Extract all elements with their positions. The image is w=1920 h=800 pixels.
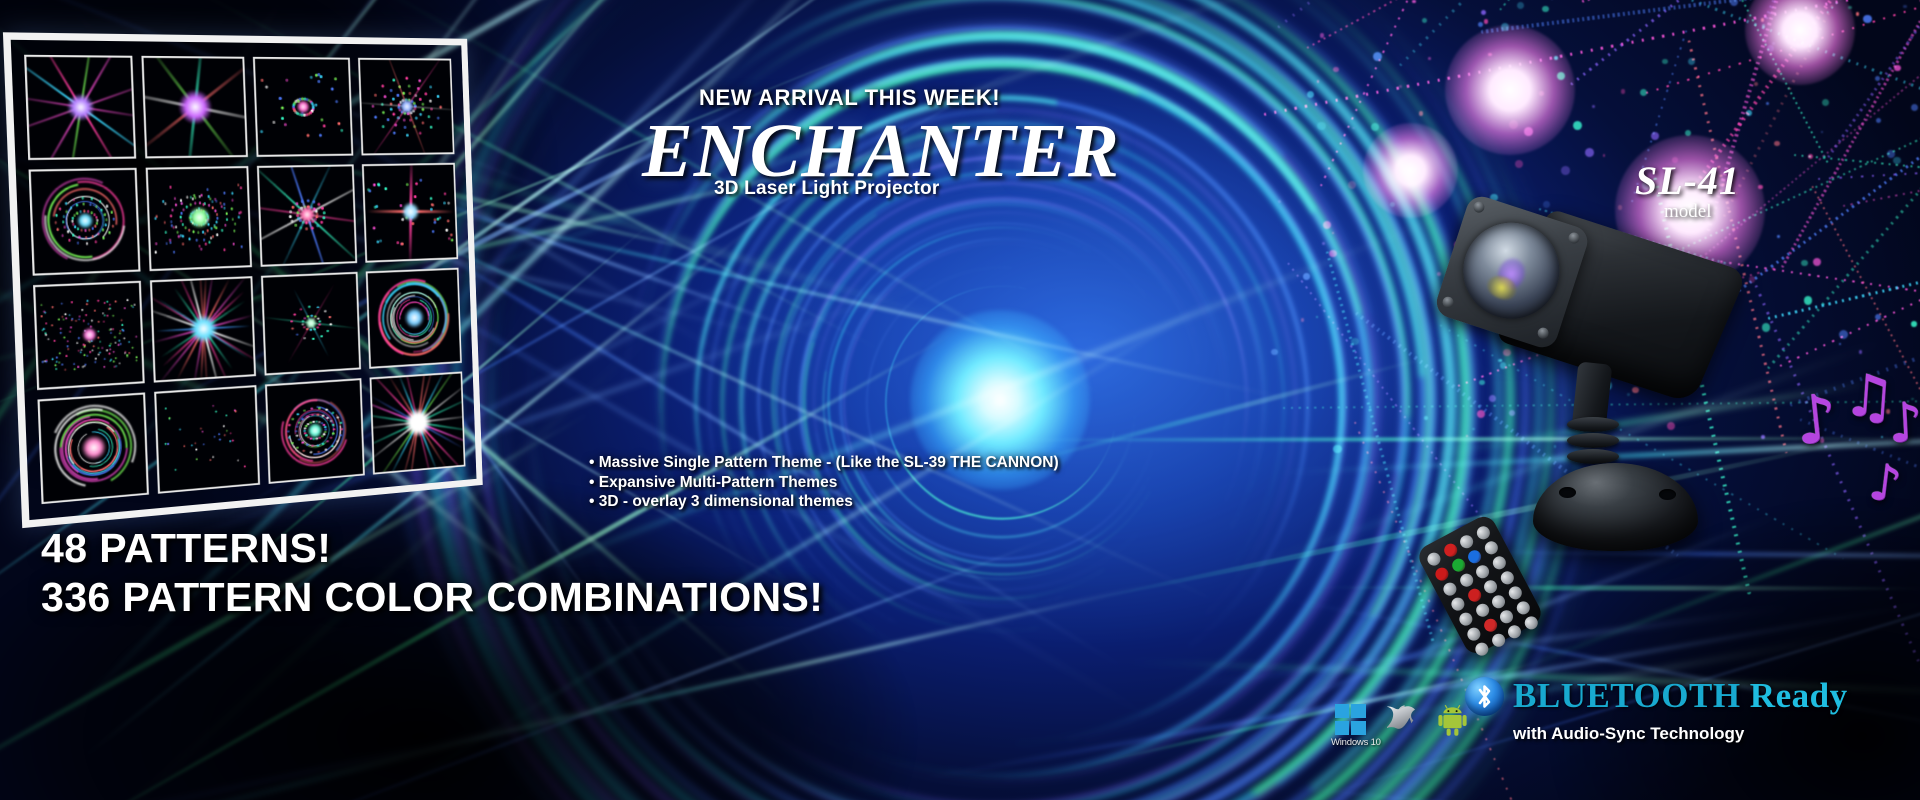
remote-button[interactable] [1466, 548, 1484, 566]
pattern-dot [89, 203, 92, 206]
pattern-dot [199, 202, 202, 205]
pattern-dot [321, 435, 324, 438]
pattern-dot [211, 200, 214, 203]
pattern-arc [29, 168, 141, 275]
compat-item-apple [1382, 704, 1420, 738]
pattern-dot [216, 234, 219, 237]
pattern-dot [215, 227, 218, 230]
pattern-dot [104, 314, 107, 317]
pattern-dot [374, 94, 376, 97]
pattern-tile[interactable] [256, 165, 357, 267]
pattern-dot [230, 208, 233, 211]
pattern-dot [168, 417, 171, 420]
pattern-dot [194, 197, 197, 200]
pattern-dot [72, 234, 75, 237]
pattern-dot [422, 122, 424, 125]
remote-button[interactable] [1514, 599, 1532, 617]
pattern-beam [150, 306, 256, 350]
pattern-dot [304, 432, 307, 435]
pattern-dot [62, 221, 65, 224]
pattern-arc [59, 196, 111, 247]
pattern-dot [85, 236, 88, 239]
pattern-dot [192, 231, 195, 234]
pattern-dot [41, 360, 44, 363]
pattern-dot [209, 459, 212, 462]
pattern-tile[interactable] [24, 55, 136, 161]
bluetooth-brand: BLUETOOTH [1513, 676, 1741, 715]
pattern-dot [44, 311, 47, 314]
pattern-beam [141, 88, 247, 126]
pattern-dot [83, 345, 86, 348]
pattern-dot [439, 217, 441, 220]
pattern-dot [430, 126, 432, 129]
pattern-dot [337, 416, 339, 419]
pattern-core-glow [297, 100, 311, 114]
pattern-dot [97, 299, 100, 302]
pattern-dot [194, 442, 197, 445]
pattern-tile[interactable] [29, 168, 141, 275]
pattern-dot [212, 405, 215, 408]
pattern-dot [126, 299, 129, 302]
headline-block: 48 PATTERNS! 336 PATTERN COLOR COMBINATI… [41, 524, 823, 622]
pattern-dot [164, 203, 167, 206]
pattern-dot [109, 344, 112, 347]
pattern-dot [43, 327, 46, 330]
pattern-dot [96, 219, 99, 222]
pattern-dot [219, 438, 222, 441]
pattern-dot [232, 243, 235, 246]
pattern-dot [202, 223, 205, 226]
pattern-dot [281, 107, 284, 110]
pattern-dot [240, 187, 243, 190]
remote-button[interactable] [1490, 593, 1508, 611]
pattern-dot [169, 186, 172, 189]
feature-item: • Massive Single Pattern Theme - (Like t… [589, 453, 1059, 473]
remote-button[interactable] [1482, 578, 1500, 596]
pattern-dot [297, 413, 300, 416]
pattern-dot [447, 220, 449, 223]
pattern-dot [182, 209, 185, 212]
pattern-tile[interactable] [37, 392, 148, 504]
pattern-dot [97, 353, 100, 356]
pattern-dot [393, 79, 395, 82]
pattern-dot [66, 340, 69, 343]
pattern-dot [180, 220, 183, 223]
projector-ring [1567, 417, 1619, 432]
remote-button[interactable] [1481, 617, 1499, 635]
pattern-dot [96, 222, 99, 225]
remote-button[interactable] [1441, 542, 1459, 560]
remote-button[interactable] [1433, 565, 1451, 583]
pattern-dot [429, 86, 431, 88]
pattern-dot [432, 230, 434, 233]
pattern-tile[interactable] [362, 163, 458, 262]
pattern-dot [180, 234, 183, 237]
pattern-dot [71, 301, 74, 304]
pattern-dot [73, 362, 76, 365]
pattern-dot [450, 234, 452, 237]
pattern-dot [321, 118, 324, 121]
pattern-dot [105, 224, 108, 227]
pattern-dot [409, 92, 411, 95]
pattern-dot [237, 216, 240, 219]
pattern-dot [103, 320, 106, 323]
pattern-tile[interactable] [150, 276, 256, 383]
pattern-dot [313, 201, 316, 204]
pattern-dot [78, 318, 81, 321]
pattern-dot [320, 75, 323, 78]
pattern-dot [78, 315, 81, 318]
pattern-dot [432, 204, 434, 207]
pattern-dot [110, 358, 113, 361]
pattern-tile[interactable] [358, 58, 454, 156]
pattern-dot [330, 437, 332, 440]
pattern-dot [373, 184, 375, 187]
pattern-dot [64, 368, 67, 371]
pattern-dot [106, 205, 109, 208]
pattern-dot [108, 352, 111, 355]
pattern-dot [109, 307, 112, 310]
headline-line-1: 48 PATTERNS! [41, 524, 823, 573]
pattern-core-glow [177, 90, 212, 125]
pattern-dot [425, 93, 427, 95]
pattern-dot [86, 299, 89, 302]
pattern-dot [420, 179, 422, 182]
pattern-dot [67, 230, 70, 233]
pattern-dot [97, 233, 100, 236]
pattern-dot [132, 306, 135, 309]
pattern-dot [291, 442, 294, 445]
pattern-dot [86, 242, 89, 245]
pattern-dot [305, 228, 308, 231]
music-note-icon: ♪ [1792, 390, 1840, 450]
pattern-dot [428, 115, 430, 118]
pattern-dot [45, 360, 48, 363]
pattern-dot [174, 469, 177, 472]
pattern-dot [60, 327, 63, 330]
pattern-dot [202, 210, 205, 213]
pattern-dot [102, 312, 105, 315]
pattern-dot [164, 231, 167, 234]
pattern-dot [121, 323, 124, 326]
pattern-dot [315, 104, 318, 107]
pattern-dot [179, 428, 182, 431]
pattern-dot [103, 365, 106, 368]
pattern-dot [295, 224, 298, 227]
pattern-dot [117, 343, 120, 346]
pattern-dot [317, 225, 320, 228]
pattern-dot [40, 304, 43, 307]
pattern-dot [169, 241, 172, 244]
remote-button[interactable] [1457, 610, 1475, 628]
pattern-dot [99, 351, 102, 354]
pattern-dot [85, 314, 88, 317]
pattern-dot [113, 218, 116, 221]
pattern-arc [39, 176, 130, 267]
remote-button[interactable] [1474, 524, 1492, 542]
pattern-core-glow [188, 206, 211, 229]
pattern-dot [316, 213, 319, 216]
pattern-dot [189, 216, 192, 219]
pattern-dot [71, 317, 74, 320]
pattern-dot [415, 183, 417, 186]
remote-button[interactable] [1490, 554, 1508, 572]
pattern-beam [176, 277, 230, 379]
pattern-dot [223, 203, 226, 206]
pattern-dot [80, 229, 83, 232]
pattern-dot [214, 210, 217, 213]
remote-button[interactable] [1474, 563, 1492, 581]
pattern-grid-frame [3, 32, 483, 528]
pattern-dot [164, 407, 167, 410]
pattern-dot [114, 341, 117, 344]
pattern-dot [68, 314, 71, 317]
pattern-dot [415, 117, 417, 120]
pattern-dot [200, 210, 203, 213]
pattern-tile[interactable] [141, 56, 247, 159]
pattern-dot [295, 430, 298, 433]
pattern-dot [82, 343, 85, 346]
pattern-dot [200, 248, 203, 251]
remote-button[interactable] [1441, 580, 1459, 598]
pattern-dot [216, 213, 219, 216]
pattern-dot [377, 241, 379, 244]
pattern-dot [154, 217, 157, 220]
pattern-dot [61, 363, 64, 366]
pattern-dot [444, 193, 446, 196]
pattern-dot [82, 197, 85, 200]
pattern-dot [322, 443, 325, 446]
pattern-dot [155, 243, 158, 246]
pattern-dot [198, 207, 201, 210]
pattern-dot [404, 126, 406, 129]
pattern-dot [84, 363, 87, 366]
pattern-arc [66, 419, 121, 476]
projector-ring [1567, 449, 1619, 464]
pattern-tile[interactable] [366, 267, 462, 368]
remote-button[interactable] [1457, 572, 1475, 590]
pattern-dot [341, 129, 343, 132]
pattern-dot [184, 227, 187, 230]
feature-item: • 3D - overlay 3 dimensional themes [589, 492, 1059, 512]
pattern-beam [141, 60, 247, 156]
pattern-dot [59, 352, 62, 355]
pattern-dot [66, 345, 69, 348]
pattern-beam [155, 325, 251, 332]
pattern-dot [162, 200, 165, 203]
pattern-dot [310, 451, 313, 454]
pattern-dot [226, 218, 229, 221]
pattern-dot [207, 195, 210, 198]
bluetooth-badge: BLUETOOTH Ready [1465, 676, 1848, 716]
pattern-dot [90, 340, 93, 343]
pattern-dot [302, 323, 305, 326]
pattern-tile[interactable] [33, 280, 144, 390]
pattern-dot [325, 428, 328, 431]
pattern-tile[interactable] [370, 371, 466, 475]
pattern-dot [291, 220, 294, 223]
pattern-dot [384, 95, 386, 98]
projector-base [1533, 463, 1698, 551]
pattern-dot [68, 239, 71, 242]
pattern-dot [322, 415, 325, 418]
pattern-dot [182, 235, 185, 238]
pattern-dot [296, 202, 299, 205]
pattern-dot [111, 211, 114, 214]
pattern-dot [119, 330, 122, 333]
pattern-dot [83, 354, 86, 357]
pattern-dot [430, 197, 432, 200]
pattern-dot [88, 229, 91, 232]
pattern-dot [273, 121, 276, 124]
music-note-icon: ♪ [1867, 460, 1904, 506]
pattern-dot [128, 340, 131, 343]
pattern-dot [112, 350, 115, 353]
pattern-dot [181, 223, 184, 226]
pattern-dot [119, 342, 122, 345]
pattern-dot [76, 342, 79, 345]
pattern-arc [46, 400, 141, 496]
pattern-dot [124, 307, 127, 310]
remote-button[interactable] [1449, 595, 1467, 613]
pattern-dot [180, 199, 183, 202]
pattern-dot [56, 356, 59, 359]
pattern-dot [89, 350, 92, 353]
pattern-dot [51, 306, 54, 309]
pattern-beam [186, 56, 204, 159]
pattern-dot [86, 354, 89, 357]
pattern-dot [60, 331, 63, 334]
pattern-dot [189, 203, 192, 206]
pattern-dot [59, 208, 62, 211]
remote-button[interactable] [1425, 550, 1443, 568]
pattern-dot [430, 208, 432, 211]
remote-button[interactable] [1473, 602, 1491, 620]
pattern-dot [114, 300, 117, 303]
pattern-tile[interactable] [154, 385, 260, 494]
pattern-dot [317, 306, 320, 309]
pattern-beam [32, 55, 128, 161]
pattern-dot [84, 344, 87, 347]
pattern-dot [200, 194, 203, 197]
remote-button[interactable] [1449, 557, 1467, 575]
pattern-dot [170, 215, 173, 218]
remote-button[interactable] [1506, 584, 1524, 602]
pattern-dot [319, 134, 322, 137]
pattern-arc [55, 410, 131, 486]
pattern-dot [190, 444, 193, 447]
pattern-dot [118, 339, 121, 342]
promo-banner: NEW ARRIVAL THIS WEEK! ENCHANTER 3D Lase… [0, 0, 1920, 800]
pattern-tile[interactable] [260, 271, 361, 375]
pattern-dot [77, 365, 80, 368]
pattern-dot [95, 357, 98, 360]
pattern-dot [382, 111, 384, 114]
base-hole [1659, 489, 1676, 500]
pattern-dot [324, 310, 327, 313]
pattern-dot [419, 132, 421, 135]
apple-logo-icon [1387, 704, 1416, 738]
pattern-arc [73, 428, 114, 468]
pattern-dot [310, 328, 313, 331]
pattern-dot [99, 200, 102, 203]
pattern-dot [317, 414, 320, 417]
pattern-dot [191, 198, 194, 201]
pattern-dot [82, 365, 85, 368]
remote-button[interactable] [1498, 608, 1516, 626]
pattern-dot [213, 226, 216, 229]
pattern-dot [176, 231, 179, 234]
pattern-beam [151, 314, 254, 344]
pattern-tile[interactable] [265, 378, 366, 484]
pattern-dot [281, 117, 284, 120]
remote-button[interactable] [1482, 539, 1500, 557]
pattern-dot [302, 441, 305, 444]
pattern-dot [79, 351, 82, 354]
pattern-dot [100, 209, 103, 212]
pattern-dot [45, 333, 48, 336]
pattern-dot [301, 200, 304, 203]
pattern-dot [122, 329, 125, 332]
pattern-beam [200, 276, 207, 383]
pattern-dot [210, 237, 213, 240]
pattern-dot [45, 359, 48, 362]
pattern-beam [175, 276, 231, 383]
pattern-tile[interactable] [145, 166, 251, 270]
remote-button[interactable] [1458, 533, 1476, 551]
pattern-dot [87, 210, 90, 213]
pattern-dot [193, 194, 196, 197]
pattern-dot [202, 203, 205, 206]
pattern-dot [393, 132, 395, 135]
pattern-dot [321, 221, 324, 224]
pattern-dot [447, 202, 449, 205]
remote-button[interactable] [1498, 569, 1516, 587]
pattern-dot [288, 424, 291, 427]
pattern-dot [207, 223, 210, 226]
remote-button[interactable] [1465, 625, 1483, 643]
pattern-dot [213, 436, 216, 439]
pattern-dot [298, 438, 301, 441]
pattern-dot [63, 215, 66, 218]
pattern-dot [164, 443, 167, 446]
pattern-dot [330, 420, 332, 423]
pattern-dot [112, 314, 115, 317]
pattern-dot [189, 218, 192, 221]
remote-button[interactable] [1465, 587, 1483, 605]
music-note-icon: ♪ [1887, 399, 1920, 447]
pattern-dot [51, 324, 54, 327]
pattern-dot [287, 430, 290, 433]
pattern-dot [384, 188, 386, 191]
pattern-dot [128, 352, 131, 355]
pattern-dot [437, 218, 439, 221]
pattern-dot [306, 113, 309, 116]
pattern-dot [208, 241, 211, 244]
pattern-dot [279, 97, 282, 100]
pattern-dot [300, 308, 303, 311]
pattern-tile[interactable] [252, 57, 353, 157]
pattern-dot [180, 212, 183, 215]
pattern-dot [195, 448, 198, 451]
pattern-dot [231, 192, 234, 195]
compat-item-windows: Windows 10 [1331, 704, 1369, 748]
pattern-dot [336, 440, 338, 443]
pattern-dot [323, 212, 326, 215]
android-logo-icon [1437, 704, 1468, 736]
pattern-core-glow [81, 434, 107, 461]
pattern-dot [63, 336, 66, 339]
